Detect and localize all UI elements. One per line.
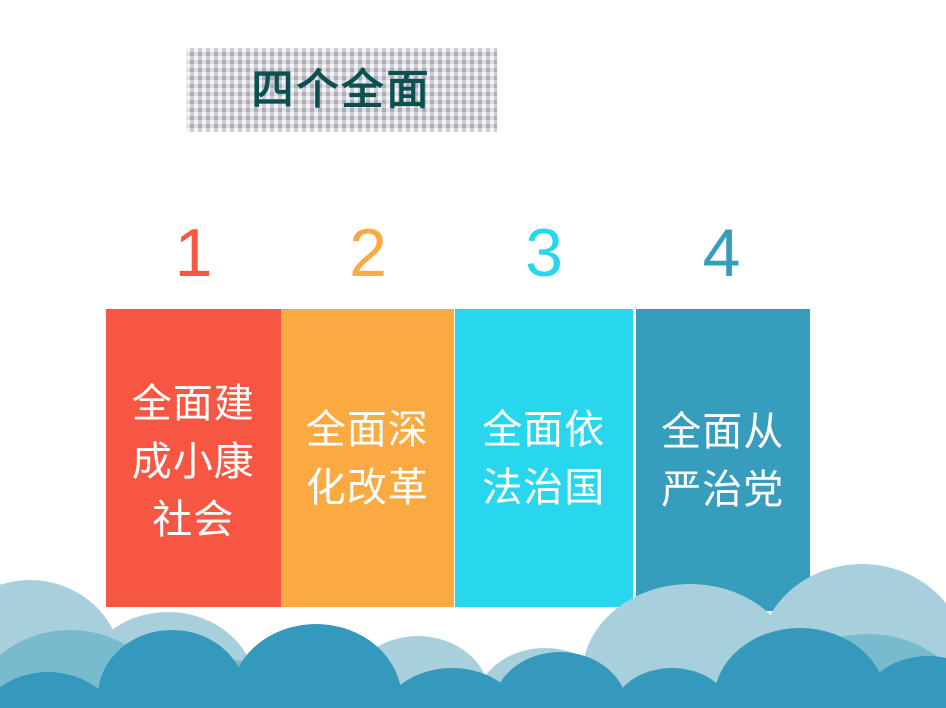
panel-quan-mian-yi-fa-zhi-guo[interactable]: 全面依 法治国 <box>455 309 633 607</box>
panel-label-1: 全面建 成小康 社会 <box>128 375 259 549</box>
panel-label-3: 全面依 法治国 <box>478 401 609 517</box>
number-glyph-2: 2 <box>349 219 387 287</box>
number-cell-3: 3 <box>455 212 633 294</box>
panel-quan-mian-jian-cheng-xiao-kang-she-hui[interactable]: 全面建 成小康 社会 <box>106 309 281 607</box>
cloud-layer-mid <box>0 630 946 708</box>
page-title: 四个全面 <box>251 69 431 111</box>
number-glyph-3: 3 <box>525 219 563 287</box>
panel-row: 全面建 成小康 社会 全面深 化改革 全面依 法治国 全面从 严治党 <box>106 309 810 611</box>
panel-quan-mian-cong-yan-zhi-dang[interactable]: 全面从 严治党 <box>636 309 811 611</box>
number-cell-2: 2 <box>281 212 455 294</box>
number-cell-1: 1 <box>106 212 281 294</box>
panel-label-2: 全面深 化改革 <box>302 401 433 517</box>
panel-quan-mian-shen-hua-gai-ge[interactable]: 全面深 化改革 <box>281 309 455 607</box>
number-cell-4: 4 <box>633 212 810 294</box>
number-glyph-4: 4 <box>703 219 741 287</box>
panel-label-4: 全面从 严治党 <box>657 403 788 519</box>
number-glyph-1: 1 <box>175 219 213 287</box>
cloud-layer-front <box>0 624 946 708</box>
slide-canvas: 四个全面 1 2 3 4 全面建 成小康 社会 全面深 化改革 全面依 法治国 … <box>0 0 946 708</box>
title-plaque: 四个全面 <box>186 48 497 132</box>
number-row: 1 2 3 4 <box>106 212 810 294</box>
